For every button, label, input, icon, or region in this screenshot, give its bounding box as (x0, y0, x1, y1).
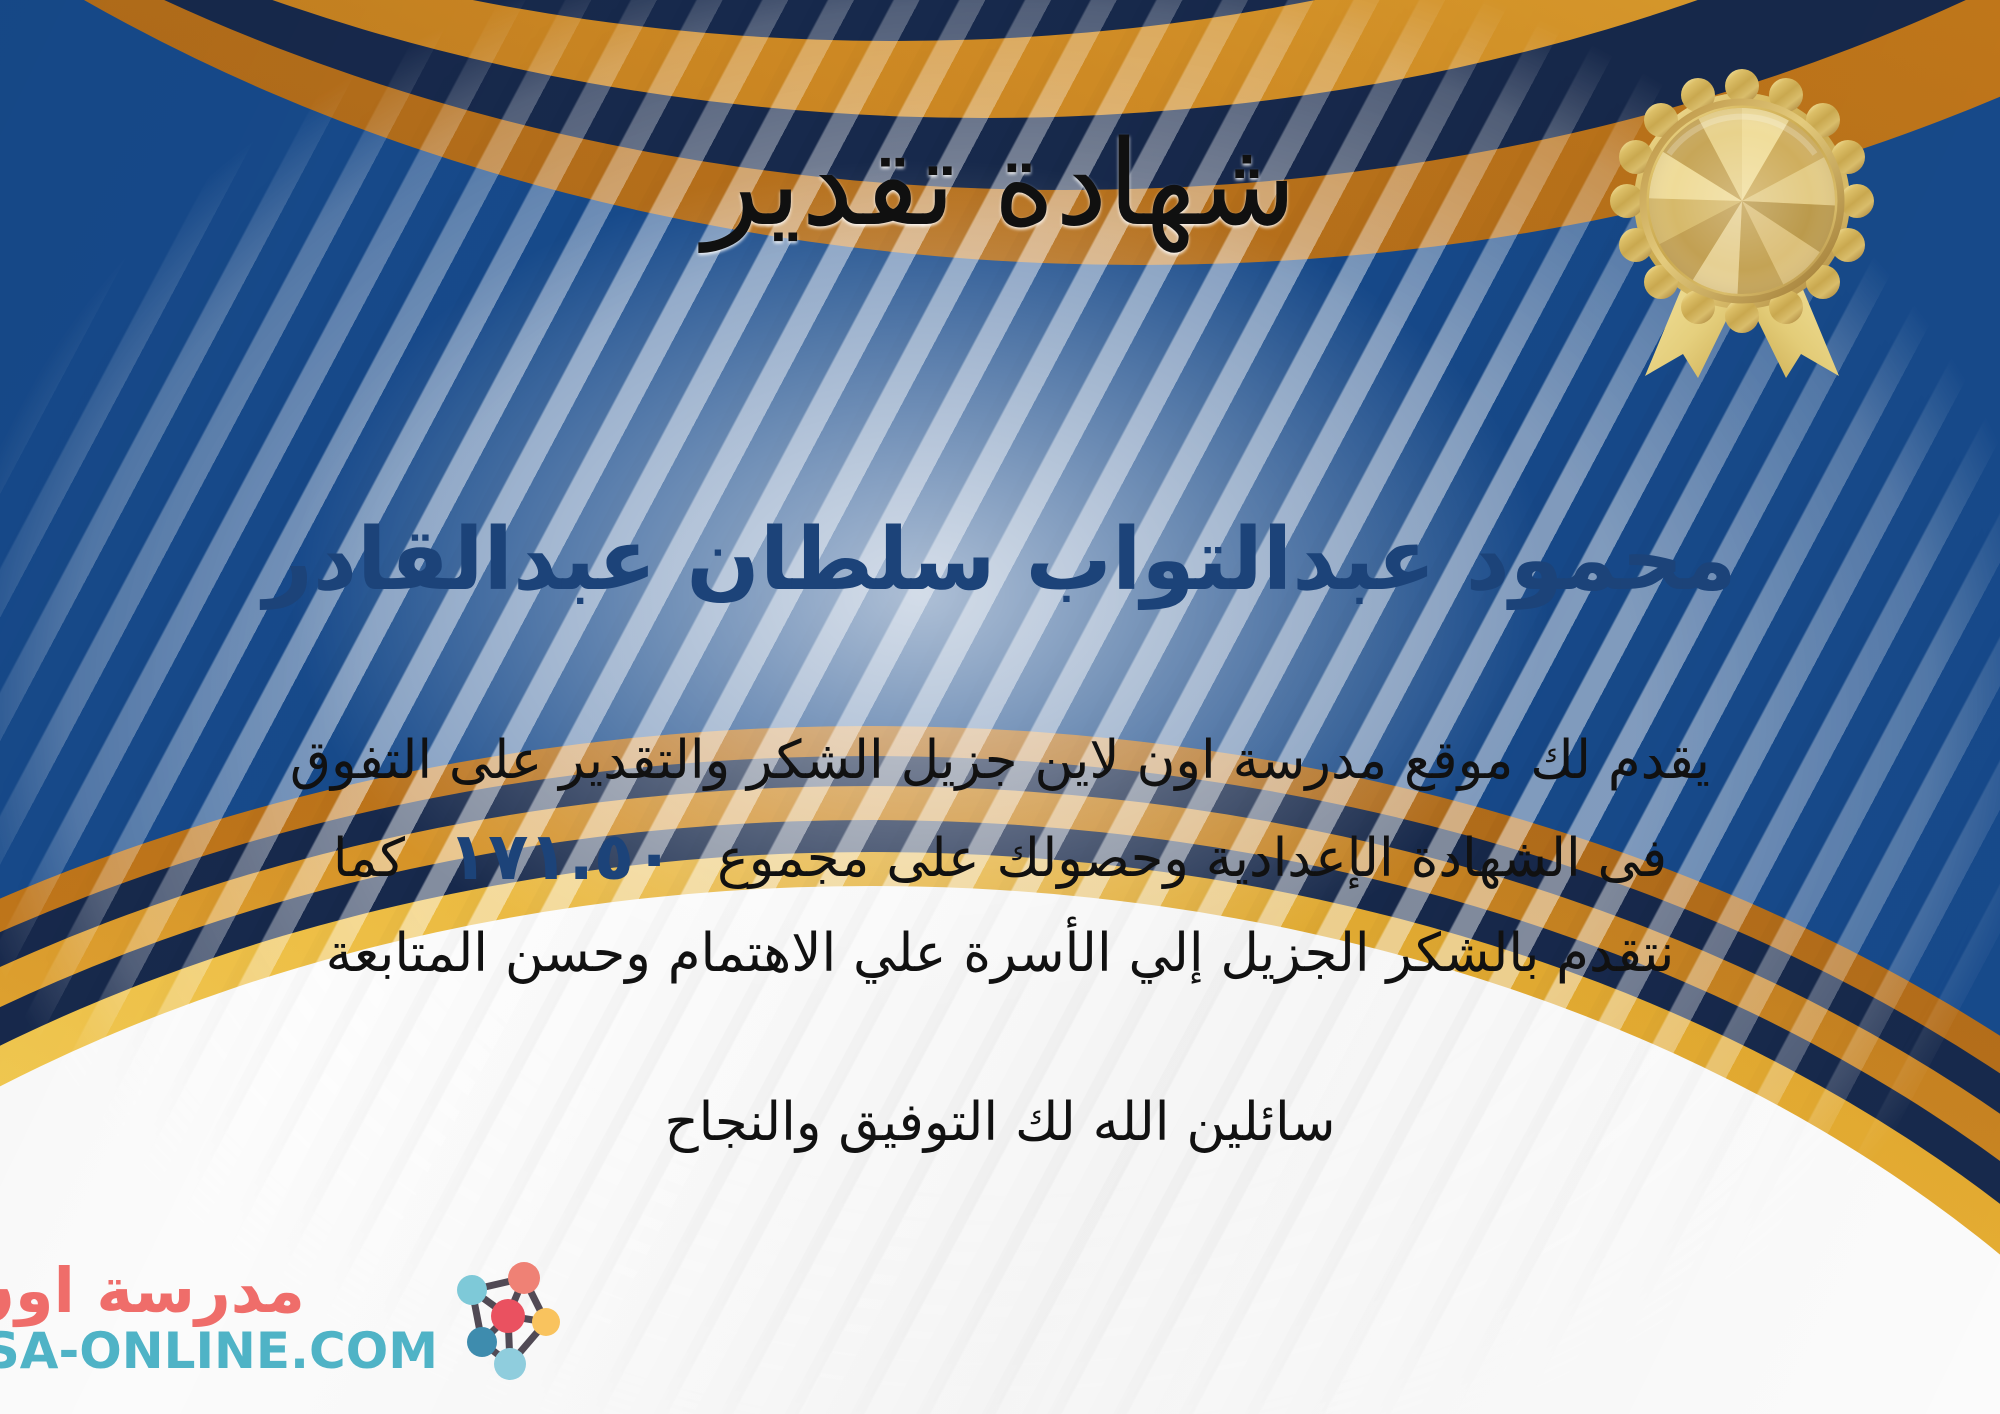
total-score-value: ١٧١.٥٠ (422, 818, 701, 895)
body-line-2-prefix: فى الشهادة الإعدادية وحصولك على مجموع (717, 828, 1667, 889)
brand-logo-text: مدرسة اون لاين MADRSA-ONLINE.COM (0, 1260, 438, 1376)
body-line-2-suffix: كما (333, 828, 405, 889)
body-line-1: يقدم لك موقع مدرسة اون لاين جزيل الشكر و… (60, 718, 1940, 804)
brand-website-url[interactable]: MADRSA-ONLINE.COM (0, 1326, 438, 1376)
brand-name-arabic: مدرسة اون لاين (0, 1260, 305, 1322)
body-line-2: فى الشهادة الإعدادية وحصولك على مجموع ١٧… (60, 804, 1940, 911)
certificate-body: يقدم لك موقع مدرسة اون لاين جزيل الشكر و… (60, 718, 1940, 997)
gold-award-medal-icon (1597, 58, 1887, 378)
network-nodes-icon (448, 1254, 566, 1382)
closing-line: سائلين الله لك التوفيق والنجاح (60, 1082, 1940, 1164)
brand-logo-row: مدرسة اون لاين MADRSA-ONLINE.COM (26, 1254, 566, 1382)
certificate-canvas: شهادة تقدير (0, 0, 2000, 1414)
recipient-name: محمود عبدالتواب سلطان عبدالقادر (120, 512, 1880, 608)
body-line-3: نتقدم بالشكر الجزيل إلي الأسرة علي الاهت… (60, 911, 1940, 997)
brand-logo[interactable]: مدرسة اون لاين MADRSA-ONLINE.COM (26, 1254, 566, 1392)
certificate-content: شهادة تقدير (0, 0, 2000, 1414)
